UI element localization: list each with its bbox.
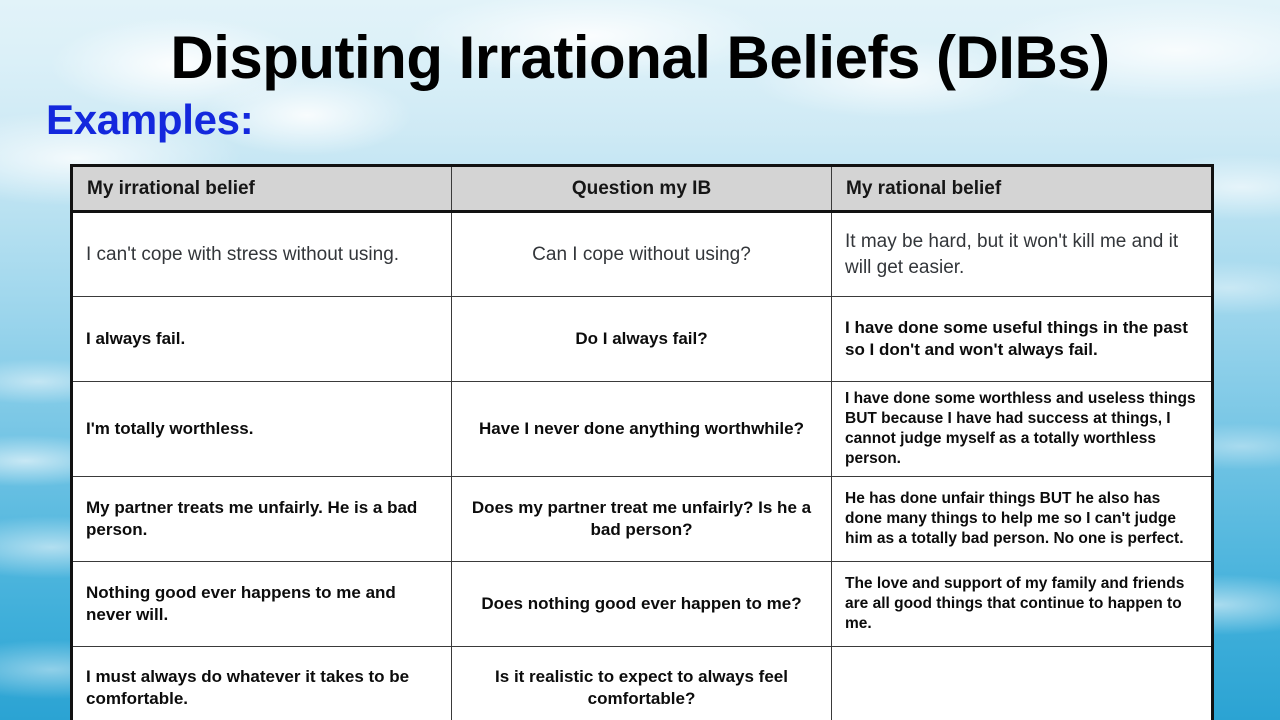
cell-question: Does my partner treat me unfairly? Is he…	[452, 476, 832, 561]
table-row: My partner treats me unfairly. He is a b…	[72, 476, 1213, 561]
column-header-question-my-ib: Question my IB	[452, 166, 832, 212]
table-header-row: My irrational belief Question my IB My r…	[72, 166, 1213, 212]
table-header: My irrational belief Question my IB My r…	[72, 166, 1213, 212]
page-title: Disputing Irrational Beliefs (DIBs)	[0, 26, 1280, 89]
table-row: I'm totally worthless. Have I never done…	[72, 382, 1213, 477]
cell-rational-belief	[832, 646, 1213, 720]
cell-question: Do I always fail?	[452, 297, 832, 382]
cell-rational-belief: The love and support of my family and fr…	[832, 561, 1213, 646]
column-header-rational-belief: My rational belief	[832, 166, 1213, 212]
cell-irrational-belief: I can't cope with stress without using.	[72, 212, 452, 297]
cell-question: Have I never done anything worthwhile?	[452, 382, 832, 477]
table-row: I can't cope with stress without using. …	[72, 212, 1213, 297]
table-row: Nothing good ever happens to me and neve…	[72, 561, 1213, 646]
table-row: I always fail. Do I always fail? I have …	[72, 297, 1213, 382]
cell-question: Can I cope without using?	[452, 212, 832, 297]
cell-irrational-belief: Nothing good ever happens to me and neve…	[72, 561, 452, 646]
dibs-examples-table: My irrational belief Question my IB My r…	[70, 164, 1214, 720]
cell-rational-belief: It may be hard, but it won't kill me and…	[832, 212, 1213, 297]
table-body: I can't cope with stress without using. …	[72, 212, 1213, 720]
table-row: I must always do whatever it takes to be…	[72, 646, 1213, 720]
cell-rational-belief: He has done unfair things BUT he also ha…	[832, 476, 1213, 561]
cell-irrational-belief: My partner treats me unfairly. He is a b…	[72, 476, 452, 561]
column-header-irrational-belief: My irrational belief	[72, 166, 452, 212]
cell-irrational-belief: I always fail.	[72, 297, 452, 382]
cell-rational-belief: I have done some useful things in the pa…	[832, 297, 1213, 382]
cell-question: Is it realistic to expect to always feel…	[452, 646, 832, 720]
cell-irrational-belief: I must always do whatever it takes to be…	[72, 646, 452, 720]
cell-irrational-belief: I'm totally worthless.	[72, 382, 452, 477]
examples-label: Examples:	[46, 98, 253, 142]
cell-question: Does nothing good ever happen to me?	[452, 561, 832, 646]
cell-rational-belief: I have done some worthless and useless t…	[832, 382, 1213, 477]
